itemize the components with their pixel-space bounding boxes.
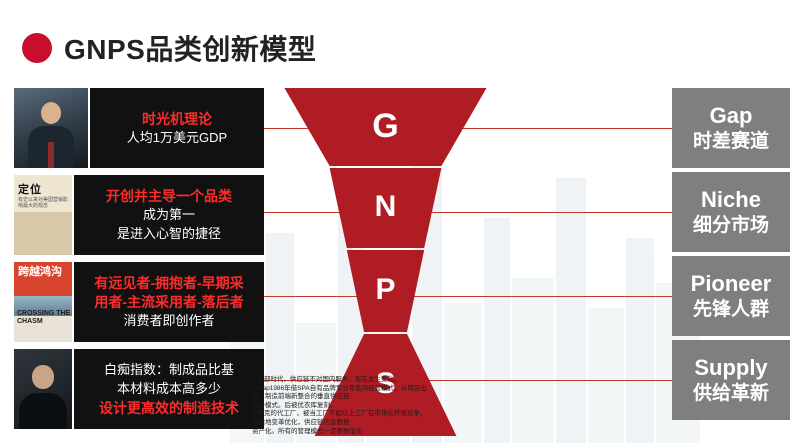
funnel-letter: P — [375, 273, 395, 307]
right-label-cn: 先锋人群 — [693, 298, 769, 321]
evidence-line: 人均1万美元GDP — [127, 130, 227, 146]
footnote-line: 资产化。所有的管理模式一定要数值化 — [252, 428, 428, 437]
evidence-text-pioneer: 有远见者-拥抱者-早期采 用者-主流采用者-落后者 消费者即创作者 — [74, 262, 264, 342]
right-label-cn: 细分市场 — [693, 214, 769, 237]
evidence-line: 有远见者-拥抱者-早期采 — [94, 275, 243, 291]
evidence-line: 是进入心智的捷径 — [117, 226, 221, 242]
photo-elon-musk — [14, 349, 72, 429]
photo-businessman-speaking — [14, 88, 88, 168]
evidence-row-pioneer: 跨越鸿沟 CROSSING THE CHASM 有远见者-拥抱者-早期采 用者-… — [14, 262, 264, 345]
footnote-line: 2.Gap1986年借SPA自有品牌专业零售商经营模式，从简店出发，制造前端新整… — [252, 385, 428, 402]
evidence-line: 时光机理论 — [142, 111, 212, 127]
evidence-row-gap: 时光机理论 人均1万美元GDP — [14, 88, 264, 171]
red-dot-icon — [22, 33, 52, 63]
footnote-line: 3.耐克的代工厂，被当工厂不如以上工厂在市场化环境竞争，渐现地变革优化，供应链信… — [252, 410, 428, 427]
right-label-niche: Niche 细分市场 — [672, 172, 790, 252]
book-subtitle: 有史以来对美国营销影响最大的观念 — [18, 197, 72, 209]
slide-canvas: GNPS品类创新模型 时光机理论 人均1万美元GDP 定位 有史以来对美国营销影… — [0, 0, 800, 443]
right-label-cn: 时差赛道 — [693, 130, 769, 153]
evidence-row-supply: 白痴指数：制成品比基 本材料成本高多少 设计更高效的制造技术 — [14, 349, 264, 432]
evidence-text-niche: 开创并主导一个品类 成为第一 是进入心智的捷径 — [74, 175, 264, 255]
evidence-row-niche: 定位 有史以来对美国营销影响最大的观念 开创并主导一个品类 成为第一 是进入心智… — [14, 175, 264, 258]
footnote-line: 1.外部时代，供应链不对国内服务，现在发生变化。 — [252, 376, 428, 385]
right-label-gap: Gap 时差赛道 — [672, 88, 790, 168]
evidence-line: 成为第一 — [143, 207, 195, 223]
evidence-line: 设计更高效的制造技术 — [99, 400, 239, 416]
evidence-line: 开创并主导一个品类 — [106, 188, 232, 204]
book-title: 定位 — [18, 181, 42, 197]
right-label-supply: Supply 供给革新 — [672, 340, 790, 420]
right-label-en: Pioneer — [691, 271, 772, 296]
right-label-en: Supply — [694, 355, 767, 380]
funnel-segment-p: P — [278, 250, 493, 332]
funnel-letter: G — [372, 107, 398, 146]
evidence-line: 用者-主流采用者-落后者 — [94, 294, 243, 310]
evidence-text-supply: 白痴指数：制成品比基 本材料成本高多少 设计更高效的制造技术 — [74, 349, 264, 429]
right-label-en: Niche — [701, 187, 761, 212]
evidence-line: 白痴指数：制成品比基 — [104, 362, 234, 378]
book-cover-crossing-the-chasm: 跨越鸿沟 CROSSING THE CHASM — [14, 262, 72, 342]
funnel-letter: N — [375, 190, 397, 224]
page-title-text: GNPS品类创新模型 — [64, 28, 316, 68]
evidence-line: 本材料成本高多少 — [117, 381, 221, 397]
right-label-pioneer: Pioneer 先锋人群 — [672, 256, 790, 336]
page-title: GNPS品类创新模型 — [22, 28, 316, 68]
right-label-en: Gap — [710, 103, 753, 128]
book-title-en: CROSSING THE CHASM — [17, 310, 72, 326]
book-title-cn: 跨越鸿沟 — [18, 266, 62, 278]
funnel-segment-g: G — [278, 88, 493, 166]
funnel-segment-n: N — [278, 168, 493, 248]
footnote-block: 1.外部时代，供应链不对国内服务，现在发生变化。 2.Gap1986年借SPA自… — [252, 376, 428, 436]
right-label-column: Gap 时差赛道 Niche 细分市场 Pioneer 先锋人群 Supply … — [672, 88, 790, 424]
right-label-cn: 供给革新 — [693, 382, 769, 405]
evidence-line: 消费者即创作者 — [123, 313, 214, 329]
left-evidence-column: 时光机理论 人均1万美元GDP 定位 有史以来对美国营销影响最大的观念 开创并主… — [14, 88, 264, 436]
book-cover-positioning: 定位 有史以来对美国营销影响最大的观念 — [14, 175, 72, 255]
evidence-text-gap: 时光机理论 人均1万美元GDP — [90, 88, 264, 168]
